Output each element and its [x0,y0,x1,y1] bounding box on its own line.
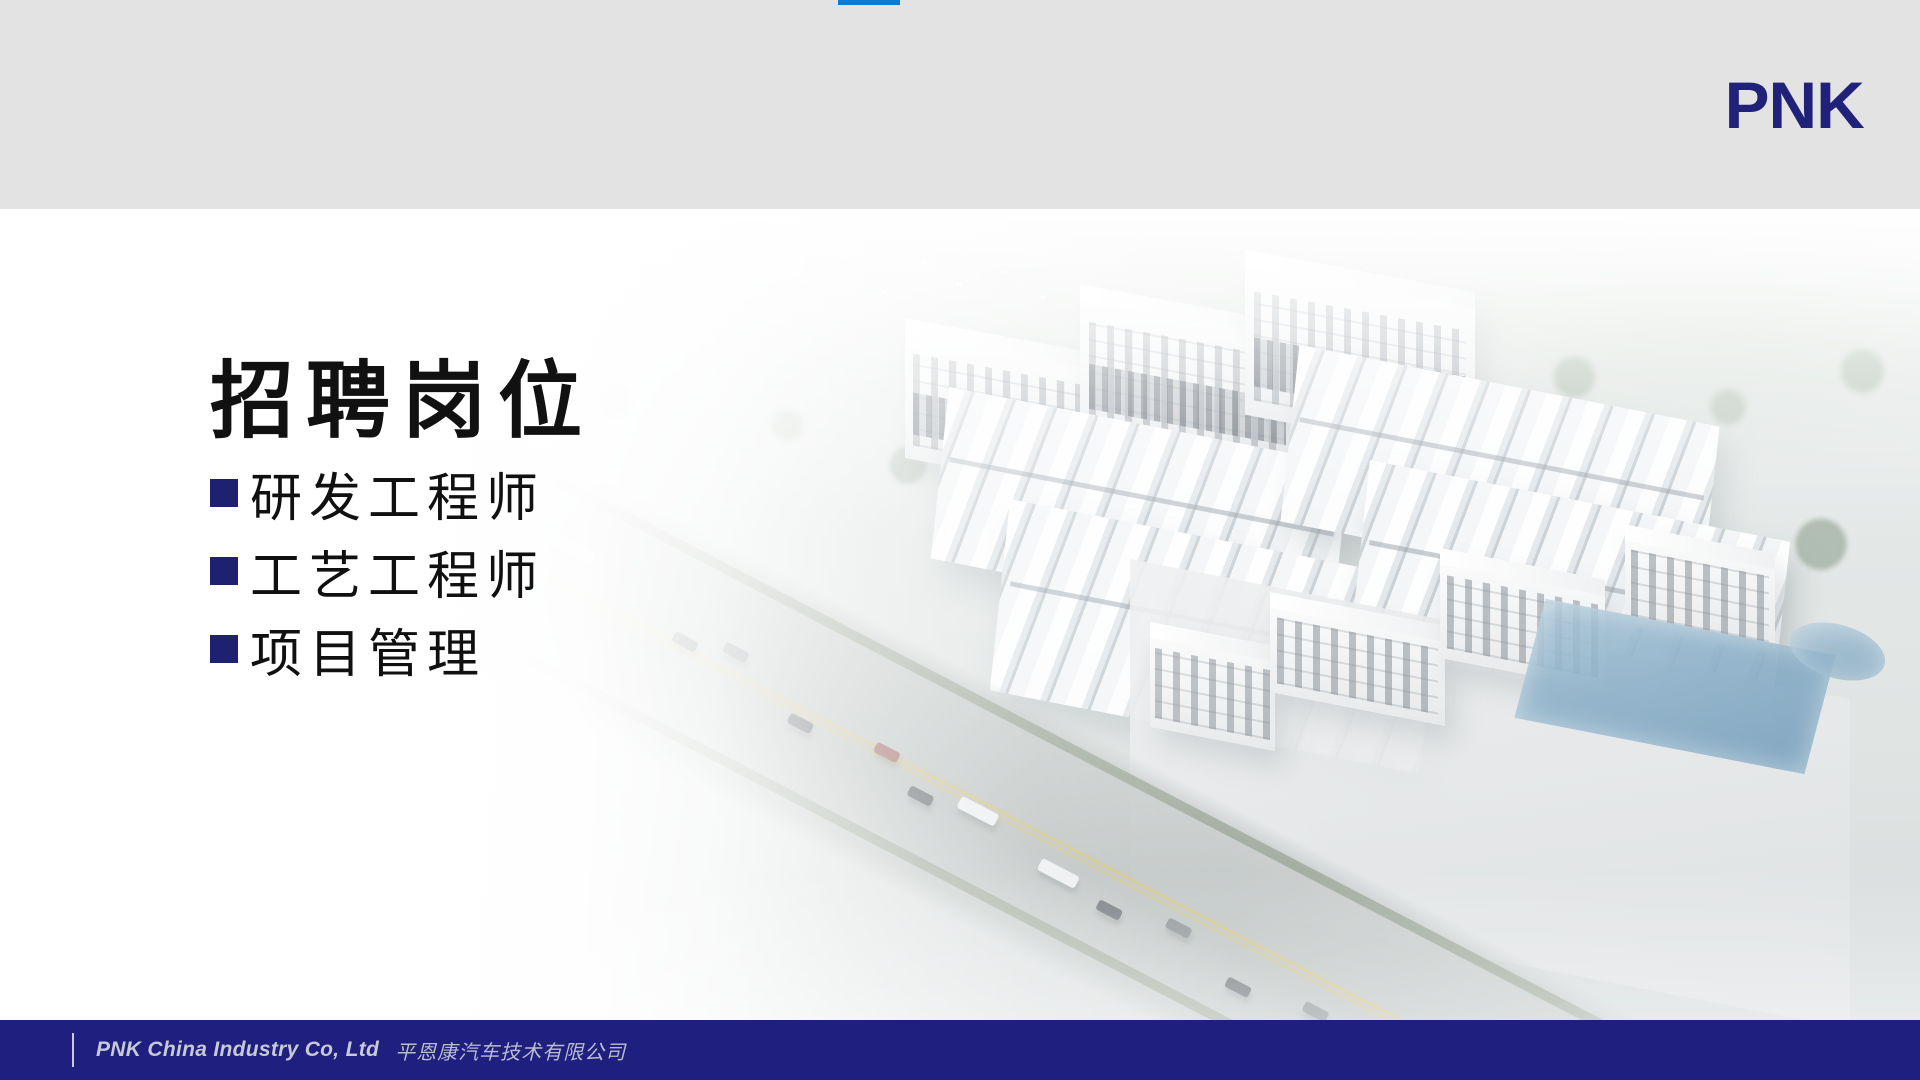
footer-band: PNK China Industry Co, Ltd 平恩康汽车技术有限公司 [0,1020,1920,1080]
selection-indicator-bar [838,0,900,5]
job-label: 工艺工程师 [250,534,545,609]
company-name-cn: 平恩康汽车技术有限公司 [395,1036,626,1065]
job-label: 项目管理 [250,612,486,687]
header-band [0,0,1920,209]
job-position-list: 研发工程师 工艺工程师 项目管理 [210,454,545,688]
job-label: 研发工程师 [250,456,545,531]
presentation-slide: ❞ ❞ ❞ ❞ ❞ ❞ ❞ [0,0,1920,1080]
list-item[interactable]: 项目管理 [210,610,545,688]
list-item[interactable]: 工艺工程师 [210,532,545,610]
fog-overlay-bottom [0,870,1920,1020]
page-title: 招聘岗位 [210,334,594,455]
square-bullet-icon [210,635,238,663]
company-name-en: PNK China Industry Co, Ltd [96,1038,379,1062]
square-bullet-icon [210,557,238,585]
pnk-logo: PNK [1724,72,1863,138]
footer-divider [72,1033,74,1067]
list-item[interactable]: 研发工程师 [210,454,545,532]
square-bullet-icon [210,479,238,507]
